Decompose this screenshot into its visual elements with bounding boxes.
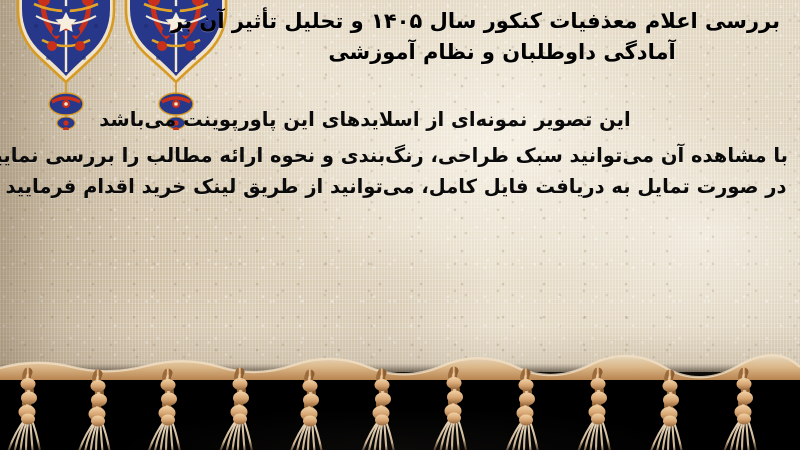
carpet-fringe <box>0 340 800 450</box>
presentation-slide: بررسی اعلام معذفیات کنکور سال ۱۴۰۵ و تحل… <box>0 0 800 450</box>
body-line-2: با مشاهده آن می‌توانید سبک طراحی، رنگ‌بن… <box>4 140 788 172</box>
fringe-header-cord <box>0 355 800 380</box>
slide-title: بررسی اعلام معذفیات کنکور سال ۱۴۰۵ و تحل… <box>222 6 782 68</box>
body-line-1: این تصویر نمونه‌ای از اسلایدهای این پاور… <box>4 104 788 140</box>
body-line-3: در صورت تمایل به دریافت فایل کامل، می‌تو… <box>4 171 788 203</box>
slide-title-line-1: بررسی اعلام معذفیات کنکور سال ۱۴۰۵ و تحل… <box>222 6 782 37</box>
slide-title-line-2: آمادگی داوطلبان و نظام آموزشی <box>222 37 782 68</box>
slide-body-text: این تصویر نمونه‌ای از اسلایدهای این پاور… <box>4 104 788 203</box>
